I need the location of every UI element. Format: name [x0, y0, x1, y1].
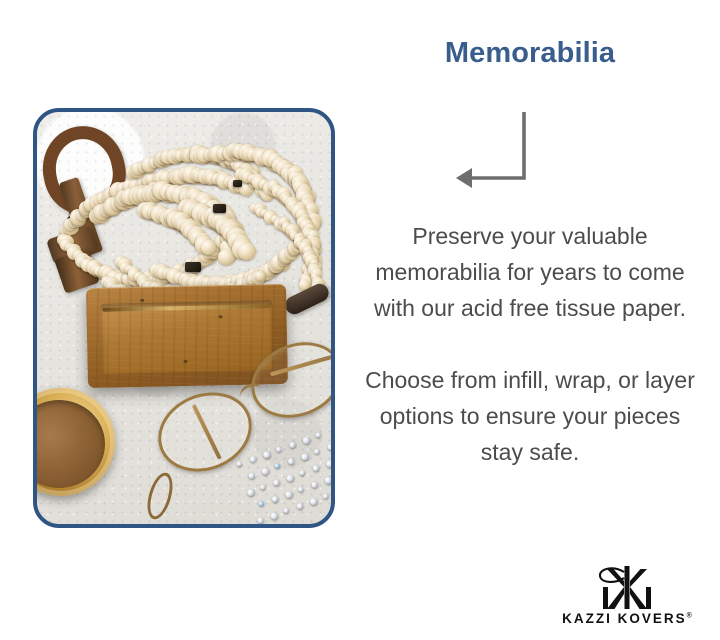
brooch-rhinestone [312, 464, 320, 472]
brooch-rhinestone [236, 461, 242, 467]
brooch-rhinestone [249, 455, 257, 463]
brooch-rhinestone [283, 507, 289, 513]
page-title: Memorabilia [360, 36, 700, 71]
brooch-rhinestone [325, 459, 331, 468]
gold-compact-lid [37, 400, 105, 488]
brooch-rhinestone [260, 484, 266, 490]
brooch-rhinestone [327, 443, 331, 451]
brooch-rhinestone [284, 490, 293, 499]
brooch-rhinestone [300, 452, 309, 461]
body-paragraph-2: Choose from infill, wrap, or layer optio… [364, 362, 696, 470]
brooch-rhinestone [286, 474, 295, 483]
brand-wordmark: KAZZI KOVERS® [552, 611, 702, 626]
brooch-rhinestone [302, 436, 311, 445]
body-copy: Preserve your valuable memorabilia for y… [364, 218, 696, 470]
brooch-rhinestone [287, 458, 295, 466]
brooch-rhinestone [273, 479, 281, 487]
brooch-rhinestone [271, 495, 279, 503]
brooch-rhinestone [311, 481, 319, 489]
kazzi-kovers-monogram-icon [591, 563, 663, 609]
brooch-rhinestone [324, 476, 331, 485]
brooch-rhinestone [314, 448, 320, 454]
return-arrow [450, 108, 540, 190]
brand-logo: KAZZI KOVERS® [552, 563, 702, 626]
brooch-rhinestone [270, 511, 279, 520]
brooch-rhinestone [299, 470, 305, 476]
return-arrow-icon [450, 108, 540, 190]
brooch-rhinestone [257, 517, 265, 524]
brooch-rhinestone [298, 486, 304, 492]
brooch-rhinestone [289, 441, 297, 449]
brooch-rhinestone [261, 467, 270, 476]
memorabilia-photo [33, 108, 335, 528]
wood-knot [184, 360, 188, 363]
brooch-rhinestone [246, 488, 255, 497]
brand-name: KAZZI KOVERS [562, 611, 687, 626]
memorabilia-promo-graphic: { "canvas": { "width": 720, "height": 64… [0, 0, 720, 640]
brooch-rhinestone [296, 502, 304, 510]
wood-knot [219, 315, 223, 318]
body-paragraph-1: Preserve your valuable memorabilia for y… [364, 218, 696, 326]
wood-knot [140, 299, 144, 302]
necklace-clasp [213, 204, 226, 213]
brooch-rhinestone [276, 446, 282, 452]
pearl-bead [238, 243, 255, 260]
brooch-rhinestone [274, 463, 280, 469]
brooch-rhinestone [322, 493, 328, 499]
necklace-clasp [233, 180, 242, 187]
brooch-rhinestone [248, 472, 256, 480]
necklace-clasp [185, 262, 201, 272]
brooch-rhinestone [262, 450, 271, 459]
registered-mark: ® [687, 613, 692, 620]
brooch-rhinestone [309, 497, 318, 506]
brooch-rhinestone [315, 432, 321, 438]
brooch-rhinestone [258, 500, 264, 506]
photo-inner [37, 112, 331, 524]
